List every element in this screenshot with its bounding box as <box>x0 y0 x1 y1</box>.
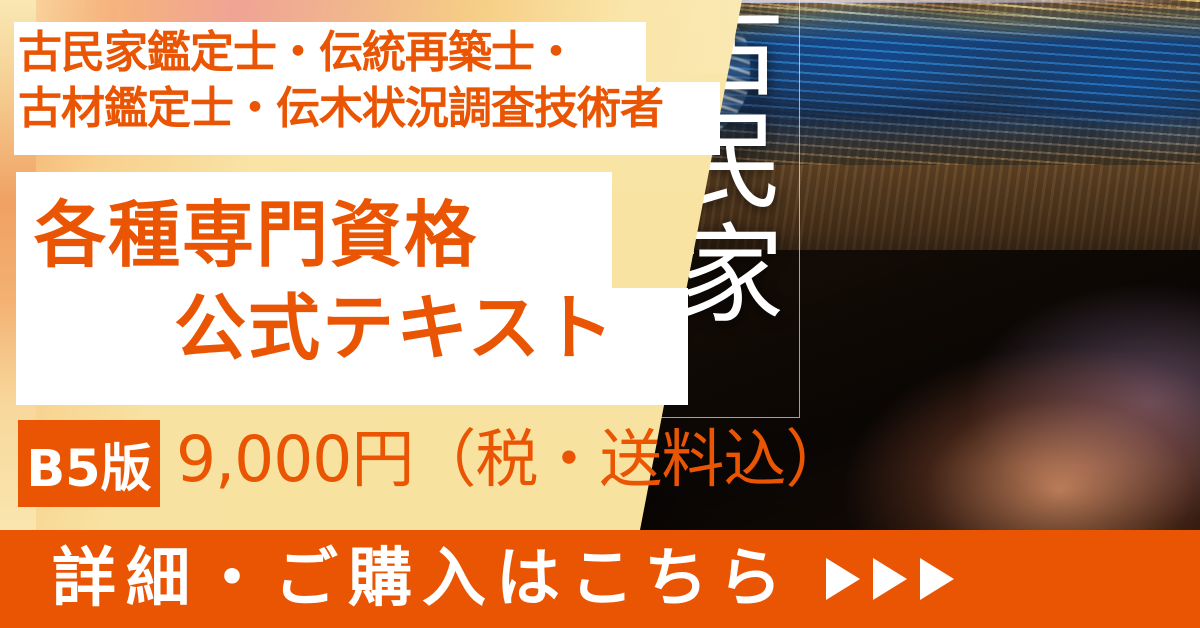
format-badge: B5版 <box>18 420 160 507</box>
promo-banner: 古民家 伝統構法 古民家活用のための調査と再生の 古民家鑑定士・伝統再築士・ 古… <box>0 0 1200 628</box>
cta-label: 詳細・ご購入はこちら <box>52 547 792 611</box>
cta-bar[interactable]: 詳細・ご購入はこちら <box>0 530 1200 628</box>
headline-line-1: 古民家鑑定士・伝統再築士・ <box>18 31 577 75</box>
chevron-right-icon-2 <box>873 558 907 600</box>
cta-arrows <box>826 558 954 600</box>
headline-line-2: 古材鑑定士・伝木状況調査技術者 <box>18 87 663 131</box>
chevron-right-icon-3 <box>920 558 954 600</box>
chevron-right-icon-1 <box>826 558 860 600</box>
main-title-line-2: 公式テキスト <box>174 292 616 364</box>
main-title-line-1: 各種専門資格 <box>34 199 478 271</box>
price-text: 9,000円（税・送料込） <box>176 428 847 491</box>
